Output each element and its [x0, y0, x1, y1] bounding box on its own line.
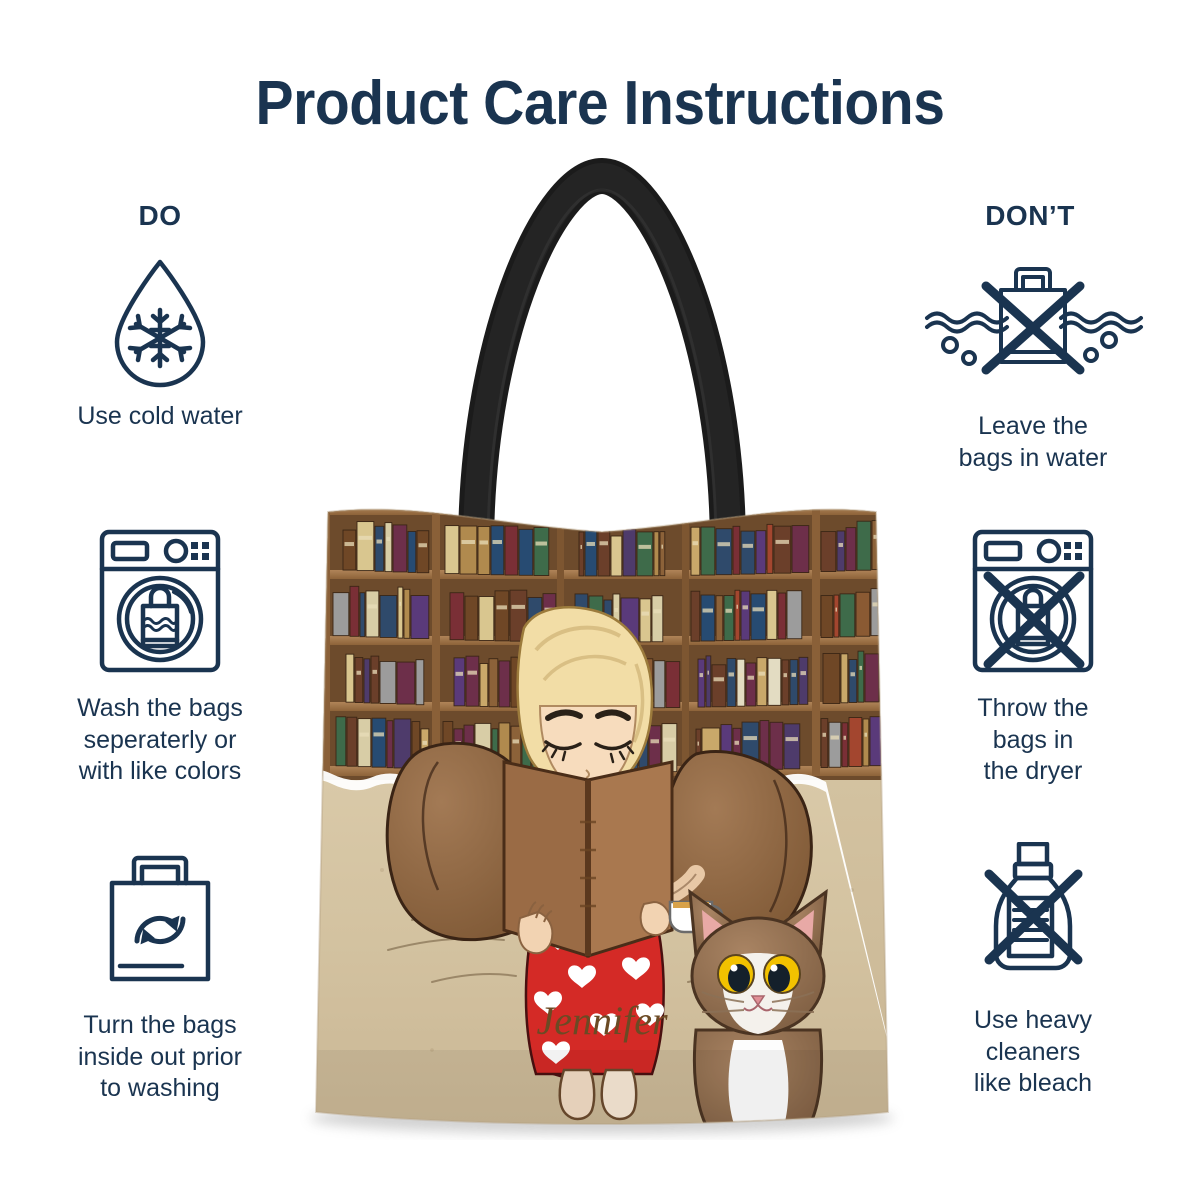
- bag-in-water-crossed-icon: [908, 248, 1158, 403]
- dont-column-header: DON’T: [910, 200, 1150, 232]
- care-item-caption: Wash the bags seperaterly or with like c…: [35, 693, 285, 788]
- dryer-bag-crossed-icon: [908, 522, 1158, 685]
- page-title: Product Care Instructions: [48, 68, 1152, 139]
- do-column-header: DO: [40, 200, 280, 232]
- care-item-wash-separately: Wash the bags seperaterly or with like c…: [35, 522, 285, 788]
- care-item-caption: Leave the bags in water: [908, 411, 1158, 474]
- care-item-caption: Use cold water: [35, 401, 285, 433]
- bleach-bottle-crossed-icon: [908, 842, 1158, 997]
- care-item-caption: Use heavy cleaners like bleach: [908, 1005, 1158, 1100]
- water-drop-snowflake-icon: [35, 248, 285, 393]
- care-item-caption: Turn the bags inside out prior to washin…: [35, 1010, 285, 1105]
- care-item-leave-bags-in-water: Leave the bags in water: [908, 248, 1158, 474]
- care-item-use-cold-water: Use cold water: [35, 248, 285, 433]
- care-item-no-heavy-cleaners: Use heavy cleaners like bleach: [908, 842, 1158, 1100]
- care-item-no-dryer: Throw the bags in the dryer: [908, 522, 1158, 788]
- bag-body: Jennifer: [292, 480, 912, 1140]
- tote-bag-product-image: Jennifer: [292, 150, 912, 1140]
- care-item-caption: Throw the bags in the dryer: [908, 693, 1158, 788]
- care-instructions-page: Product Care Instructions DO DON’T: [0, 0, 1200, 1200]
- care-item-turn-inside-out: Turn the bags inside out prior to washin…: [35, 845, 285, 1105]
- tote-bag-reverse-arrows-icon: [35, 845, 285, 1002]
- washing-machine-bag-icon: [35, 522, 285, 685]
- bag-handles: [476, 176, 728, 542]
